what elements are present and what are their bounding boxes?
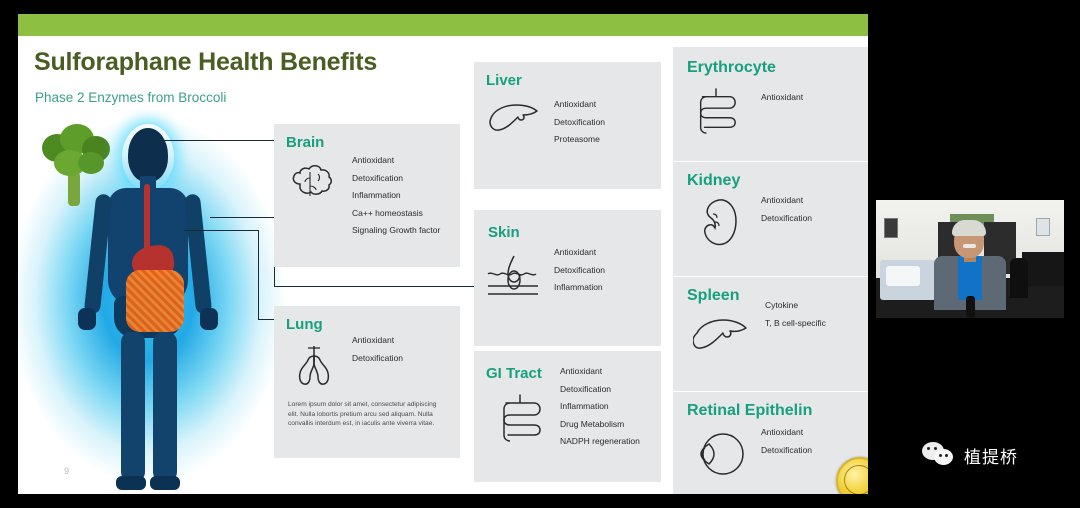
card-benefits: Antioxidant — [761, 91, 861, 109]
card-liver[interactable]: Liver Antioxidant Detoxification Proteas… — [474, 62, 661, 189]
slide-accent-bar — [18, 14, 868, 36]
figure-leg-left — [121, 332, 145, 482]
card-benefits: Cytokine T, B cell-specific — [765, 299, 849, 334]
card-skin[interactable]: Skin Antioxidant Detoxification Inflamma… — [474, 210, 661, 346]
intestine-icon — [693, 87, 739, 137]
benefit-item: Antioxidant — [352, 154, 452, 168]
card-benefits: Antioxidant Detoxification — [761, 194, 861, 229]
card-title: Kidney — [687, 172, 740, 190]
spleen-icon — [693, 317, 749, 359]
figure-leg-right — [153, 332, 177, 482]
intestine-icon — [496, 393, 544, 445]
eye-icon — [693, 430, 749, 478]
benefit-item: Antioxidant — [560, 365, 652, 379]
benefit-item: Antioxidant — [761, 194, 861, 208]
benefit-item: T, B cell-specific — [765, 317, 849, 331]
benefit-item: Inflammation — [554, 281, 654, 295]
benefit-item: Detoxification — [554, 116, 654, 130]
page-subtitle: Phase 2 Enzymes from Broccoli — [35, 90, 226, 105]
benefit-item: Ca++ homeostasis — [352, 207, 452, 221]
card-title: Retinal Epithelin — [687, 402, 812, 420]
benefit-item: Detoxification — [352, 172, 452, 186]
benefit-item: NADPH regeneration — [560, 435, 652, 449]
connector-lung-horizontal — [184, 230, 259, 231]
benefit-item: Inflammation — [352, 189, 452, 203]
benefit-item: Antioxidant — [352, 334, 452, 348]
wechat-logo-icon — [922, 442, 956, 468]
kidney-icon — [693, 196, 741, 248]
card-erythrocyte[interactable]: Erythrocyte Antioxidant — [673, 47, 868, 161]
benefit-item: Antioxidant — [761, 91, 861, 105]
page-title: Sulforaphane Health Benefits — [34, 48, 377, 77]
lungs-icon — [288, 342, 340, 388]
figure-hand-right — [200, 308, 218, 330]
liver-icon — [488, 102, 542, 142]
figure-foot-right — [150, 476, 180, 490]
card-brain[interactable]: Brain Antioxidant Detoxification Inflamm… — [274, 124, 460, 267]
card-placeholder-text: Lorem ipsum dolor sit amet, consectetur … — [288, 400, 448, 429]
webcam-image — [876, 200, 1064, 318]
card-title: Erythrocyte — [687, 59, 776, 77]
card-title: Lung — [286, 316, 323, 333]
presenter-webcam-feed[interactable] — [872, 190, 1068, 368]
connector-skin-to-card — [274, 286, 474, 287]
card-title: Skin — [488, 224, 520, 241]
card-spleen[interactable]: Spleen Cytokine T, B cell-specific — [673, 277, 868, 391]
human-anatomy-illustration — [18, 110, 286, 494]
benefit-item: Detoxification — [352, 352, 452, 366]
benefit-item: Detoxification — [761, 444, 861, 458]
connector-brain — [158, 140, 276, 141]
card-lung[interactable]: Lung Antioxidant Detoxification Lorem ip… — [274, 306, 460, 458]
benefit-item: Detoxification — [560, 383, 652, 397]
card-benefits: Antioxidant Detoxification Inflammation — [554, 246, 654, 299]
wechat-watermark: 植提桥 — [922, 442, 1018, 468]
card-benefits: Antioxidant Detoxification — [761, 426, 861, 461]
benefit-item: Antioxidant — [554, 246, 654, 260]
benefit-item: Detoxification — [761, 212, 861, 226]
card-title: Liver — [486, 72, 522, 89]
benefit-item: Detoxification — [554, 264, 654, 278]
figure-arm-right — [184, 193, 212, 314]
card-benefits: Antioxidant Detoxification Inflammation … — [560, 365, 652, 453]
slide-number: 9 — [64, 466, 69, 476]
benefit-item: Signaling Growth factor — [352, 224, 452, 238]
card-title: Spleen — [687, 287, 739, 305]
card-benefits: Antioxidant Detoxification Inflammation … — [352, 154, 452, 242]
connector-skin-horizontal — [210, 217, 276, 218]
benefit-item: Antioxidant — [554, 98, 654, 112]
intestine-highlight — [126, 270, 184, 332]
benefit-item: Proteasome — [554, 133, 654, 147]
benefit-item: Antioxidant — [761, 426, 861, 440]
benefit-item: Drug Metabolism — [560, 418, 652, 432]
figure-foot-left — [116, 476, 146, 490]
card-benefits: Antioxidant Detoxification — [352, 334, 452, 369]
card-benefits: Antioxidant Detoxification Proteasome — [554, 98, 654, 151]
card-kidney[interactable]: Kidney Antioxidant Detoxification — [673, 162, 868, 276]
benefit-item: Inflammation — [560, 400, 652, 414]
connector-lung-vertical — [258, 230, 259, 320]
benefit-item: Cytokine — [765, 299, 849, 313]
card-gi-tract[interactable]: GI Tract Antioxidant Detoxification Infl… — [474, 351, 661, 482]
esophagus-highlight — [144, 184, 150, 254]
figure-hand-left — [78, 308, 96, 330]
skin-hair-follicle-icon — [484, 252, 542, 302]
card-title: Brain — [286, 134, 324, 151]
wechat-account-name: 植提桥 — [964, 443, 1018, 468]
card-title: GI Tract — [486, 365, 542, 382]
presentation-slide: Sulforaphane Health Benefits Phase 2 Enz… — [18, 14, 868, 494]
brain-icon — [288, 162, 340, 206]
screen-background: Sulforaphane Health Benefits Phase 2 Enz… — [0, 0, 1080, 508]
